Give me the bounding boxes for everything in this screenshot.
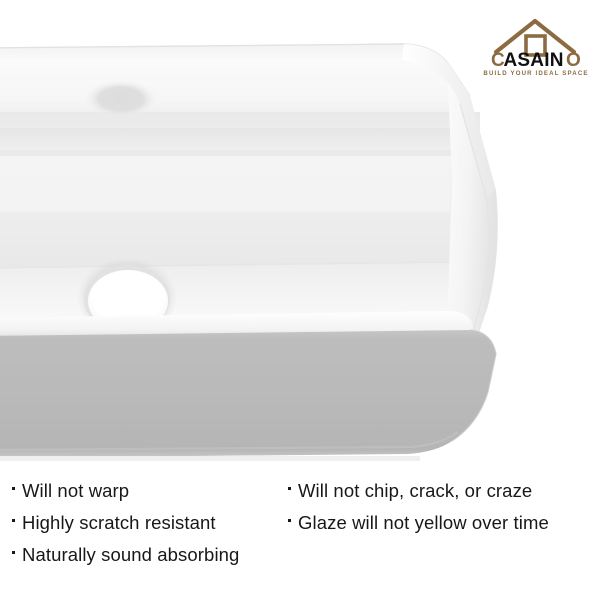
- feature-item: Naturally sound absorbing: [12, 539, 298, 571]
- feature-label: Naturally sound absorbing: [22, 539, 239, 571]
- feature-label: Will not chip, crack, or craze: [298, 475, 532, 507]
- feature-item: Highly scratch resistant: [12, 507, 298, 539]
- bullet-icon: [12, 519, 15, 522]
- brand-logo: C ASAIN O BUILD YOUR IDEAL SPACE: [478, 12, 594, 76]
- product-feature-card: C ASAIN O BUILD YOUR IDEAL SPACE Will no…: [0, 0, 600, 600]
- logo-letter-o: O: [566, 50, 581, 71]
- house-roof-icon: C ASAIN O BUILD YOUR IDEAL SPACE: [478, 12, 594, 76]
- bullet-icon: [288, 519, 291, 522]
- feature-list: Will not warp Highly scratch resistant N…: [0, 468, 600, 600]
- feature-item: Glaze will not yellow over time: [288, 507, 594, 539]
- feature-item: Will not warp: [12, 475, 298, 507]
- sink-front-apron: [0, 311, 496, 458]
- feature-label: Will not warp: [22, 475, 129, 507]
- feature-column-left: Will not warp Highly scratch resistant N…: [12, 475, 298, 571]
- bullet-icon: [12, 487, 15, 490]
- logo-letters-asain: ASAIN: [504, 50, 564, 71]
- product-photo: C ASAIN O BUILD YOUR IDEAL SPACE: [0, 0, 600, 468]
- bullet-icon: [288, 487, 291, 490]
- faucet-mounting-hole: [85, 80, 157, 118]
- logo-tagline: BUILD YOUR IDEAL SPACE: [483, 70, 588, 76]
- feature-label: Highly scratch resistant: [22, 507, 216, 539]
- feature-item: Will not chip, crack, or craze: [288, 475, 594, 507]
- feature-column-right: Will not chip, crack, or craze Glaze wil…: [288, 475, 594, 539]
- sink-contact-shadow: [0, 456, 420, 461]
- sink-rim: [0, 44, 470, 120]
- sink-basin-interior: [0, 112, 480, 334]
- bullet-icon: [12, 551, 15, 554]
- feature-label: Glaze will not yellow over time: [298, 507, 549, 539]
